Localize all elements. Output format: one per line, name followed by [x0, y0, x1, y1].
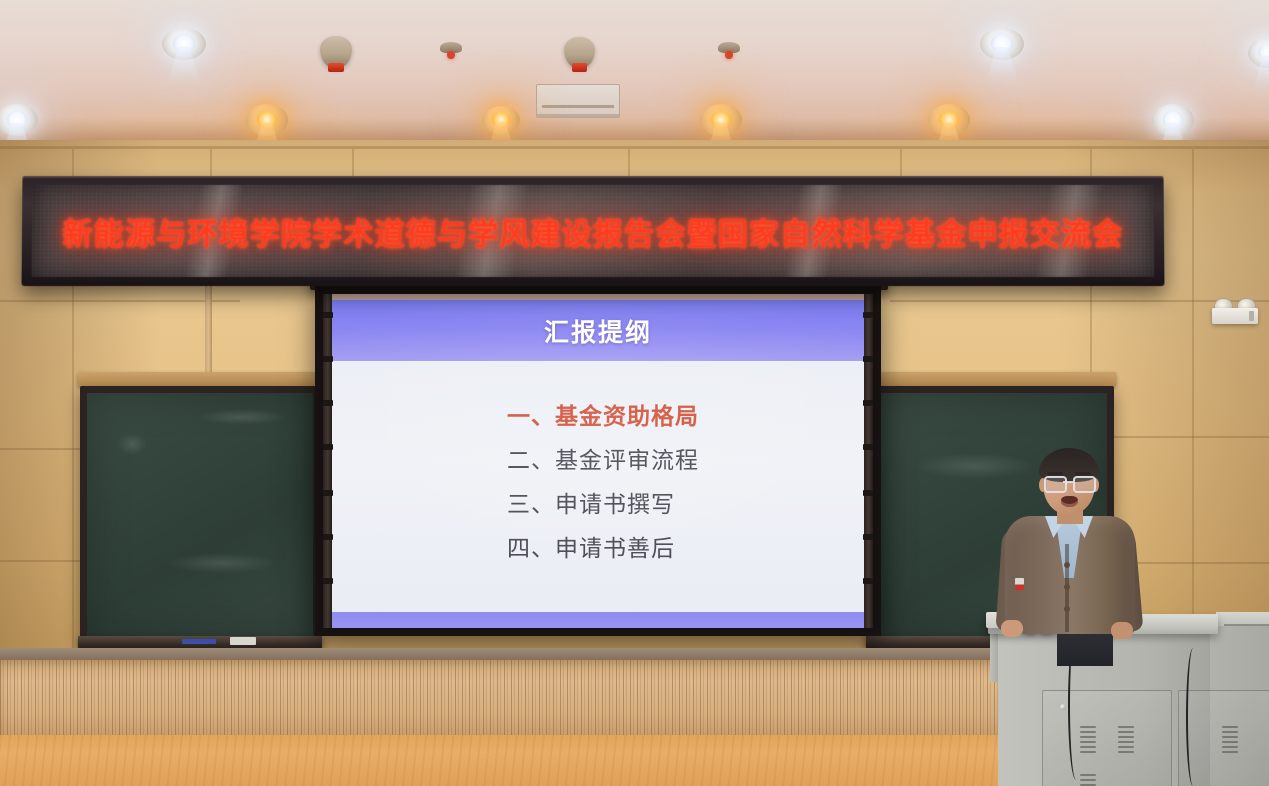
outline-index-2: 二、: [507, 448, 555, 474]
glasses-icon: [1073, 476, 1096, 493]
presenter: [999, 452, 1141, 634]
ceiling-spotlight: [700, 104, 742, 136]
slide-body: 一、基金资助格局 二、基金评审流程 三、申请书撰写 四、申请书善后: [327, 361, 869, 612]
chalkboard-left: [80, 386, 320, 644]
outline-index-3: 三、: [507, 492, 555, 518]
ceiling-spotlight: [980, 28, 1024, 60]
presenter-hand-right: [1111, 622, 1133, 639]
wall-seam: [0, 146, 1269, 149]
projection-screen: 汇报提纲 一、基金资助格局 二、基金评审流程 三、申请书撰写 四、申请书善后: [315, 286, 881, 636]
board-eraser[interactable]: [230, 637, 256, 645]
sprinkler-head: [718, 42, 740, 60]
lecture-hall-scene: 汇报提纲 一、基金资助格局 二、基金评审流程 三、申请书撰写 四、申请书善后: [0, 0, 1269, 786]
wall-seam: [900, 149, 902, 177]
slide-outline-item-1: 一、基金资助格局: [507, 395, 869, 439]
outline-label-2: 基金评审流程: [555, 448, 699, 474]
led-banner: 新能源与环境学院学术道德与学风建设报告会暨国家自然科学基金申报交流会: [22, 176, 1165, 286]
presenter-mouth: [1061, 496, 1078, 507]
slide-header: 汇报提纲: [327, 300, 869, 361]
presenter-hand-left: [1001, 620, 1023, 637]
chalk[interactable]: [182, 639, 216, 644]
ceiling-spotlight: [162, 28, 206, 60]
slide-outline-item-4: 四、申请书善后: [507, 527, 869, 571]
wall-seam: [1192, 149, 1194, 619]
wall-seam: [352, 149, 354, 177]
outline-label-3: 申请书撰写: [555, 492, 675, 518]
outline-index-1: 一、: [507, 404, 555, 430]
podium-vent: [1080, 774, 1096, 786]
presentation-slide: 汇报提纲 一、基金资助格局 二、基金评审流程 三、申请书撰写 四、申请书善后: [327, 300, 869, 612]
smoke-detector: [320, 36, 352, 69]
screen-surface: 汇报提纲 一、基金资助格局 二、基金评审流程 三、申请书撰写 四、申请书善后: [323, 294, 873, 628]
slide-outline-item-3: 三、申请书撰写: [507, 483, 869, 527]
cable: [1186, 648, 1200, 786]
glasses-bridge: [1063, 481, 1073, 483]
podium-lock-icon[interactable]: [1060, 704, 1066, 710]
presenter-badge: [1015, 578, 1024, 590]
chalkboard-left-trim: [78, 372, 326, 386]
wall-pipe: [205, 282, 212, 382]
glasses-icon: [1044, 476, 1067, 493]
emergency-light: [1212, 298, 1258, 324]
podium-vent: [1118, 726, 1134, 756]
screen-track-right: [864, 294, 873, 628]
ceiling-spotlight: [482, 106, 520, 134]
wall-seam: [0, 300, 240, 302]
led-banner-screen: 新能源与环境学院学术道德与学风建设报告会暨国家自然科学基金申报交流会: [32, 185, 1155, 277]
slide-title: 汇报提纲: [544, 313, 652, 349]
chalkboard-right-trim: [866, 372, 1116, 386]
ceiling-spotlight: [1152, 104, 1194, 136]
podium-vent: [1222, 726, 1238, 756]
slide-footer-band: [327, 612, 869, 628]
sprinkler-head: [440, 42, 462, 60]
ceiling-spotlight: [928, 104, 970, 136]
led-banner-frame: 新能源与环境学院学术道德与学风建设报告会暨国家自然科学基金申报交流会: [22, 176, 1165, 286]
screen-track-left: [323, 294, 332, 628]
air-vent: [536, 84, 620, 118]
outline-label-1: 基金资助格局: [555, 404, 699, 430]
outline-index-4: 四、: [507, 536, 555, 562]
smoke-detector: [564, 37, 595, 69]
outline-label-4: 申请书善后: [555, 536, 675, 562]
ceiling-spotlight: [246, 104, 288, 136]
wall-seam: [628, 149, 630, 177]
slide-outline-item-2: 二、基金评审流程: [507, 439, 869, 483]
led-banner-text: 新能源与环境学院学术道德与学风建设报告会暨国家自然科学基金申报交流会: [62, 209, 1123, 253]
